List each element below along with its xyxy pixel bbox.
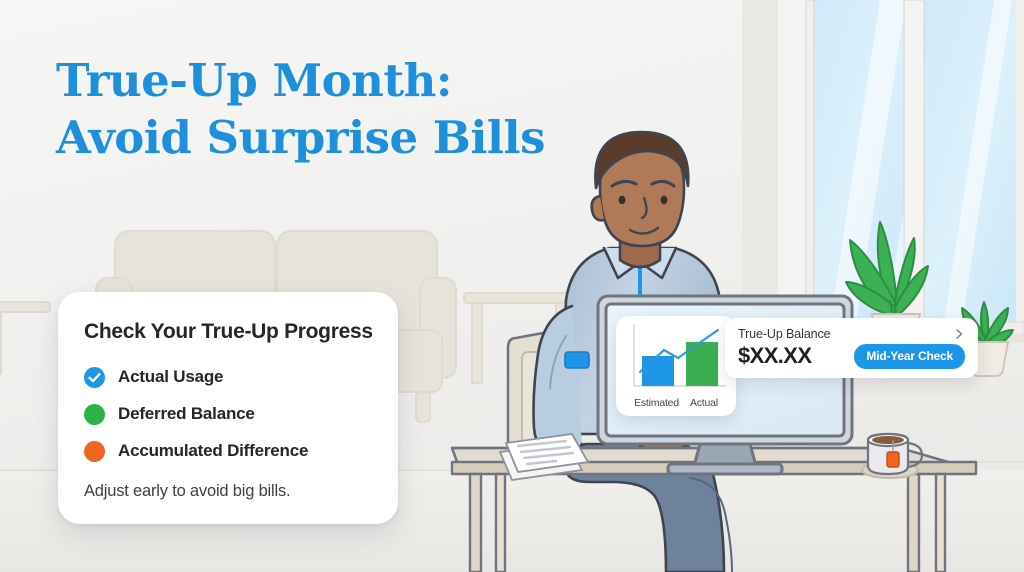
status-badge[interactable]: Mid-Year Check <box>854 344 965 369</box>
usage-chart-card[interactable]: Estimated Actual <box>616 316 736 416</box>
bar-label-actual: Actual <box>690 397 718 409</box>
chevron-right-icon[interactable] <box>953 328 965 340</box>
list-item[interactable]: Accumulated Difference <box>84 434 372 468</box>
list-item[interactable]: Deferred Balance <box>84 397 372 431</box>
card-title: Check Your True-Up Progress <box>84 320 372 344</box>
true-up-progress-card: Check Your True-Up Progress Actual Usage… <box>58 292 398 524</box>
true-up-balance-card[interactable]: True-Up Balance $XX.XX Mid-Year Check <box>725 318 978 378</box>
headline-line-2: Avoid Surprise Bills <box>56 111 545 164</box>
card-footnote: Adjust early to avoid big bills. <box>84 482 372 501</box>
chart-axis-labels: Estimated Actual <box>616 397 736 409</box>
list-item[interactable]: Actual Usage <box>84 360 372 394</box>
balance-amount: $XX.XX <box>738 343 811 369</box>
status-dot-icon <box>84 404 105 425</box>
list-item-label: Accumulated Difference <box>118 441 308 461</box>
illustration-banner: True-Up Month: Avoid Surprise Bills Chec… <box>0 0 1024 572</box>
bar-chart <box>616 316 736 398</box>
bar-label-estimated: Estimated <box>634 397 679 409</box>
check-circle-icon <box>84 367 105 388</box>
bar-estimated <box>642 356 674 386</box>
balance-label: True-Up Balance <box>738 327 831 341</box>
balance-header: True-Up Balance <box>738 327 965 341</box>
status-dot-icon <box>84 441 105 462</box>
page-title: True-Up Month: Avoid Surprise Bills <box>56 52 545 166</box>
list-item-label: Deferred Balance <box>118 404 255 424</box>
list-item-label: Actual Usage <box>118 367 223 387</box>
headline-line-1: True-Up Month: <box>56 54 452 107</box>
balance-body: $XX.XX Mid-Year Check <box>738 343 965 369</box>
